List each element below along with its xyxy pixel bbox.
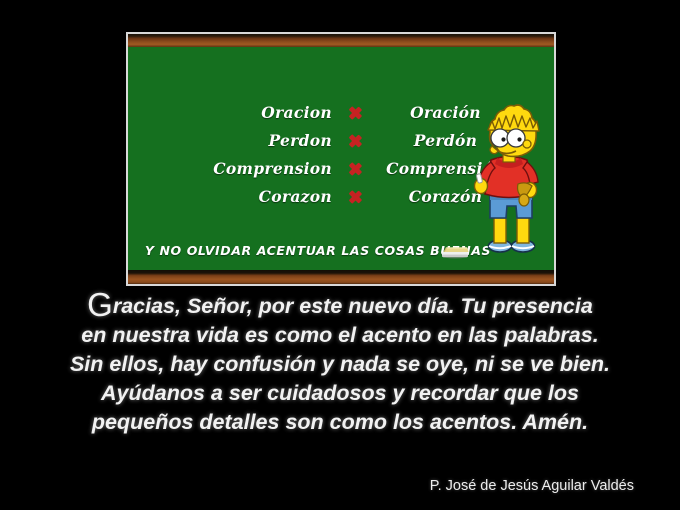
author-credit: P. José de Jesús Aguilar Valdés bbox=[430, 478, 634, 494]
x-mark-icon bbox=[348, 134, 362, 148]
word-row: Comprension bbox=[156, 155, 366, 183]
prayer-line-4: Ayúdanos a ser cuidadosos y recordar que… bbox=[0, 379, 680, 408]
chalkboard: Oracion Perdon Comprension Corazon bbox=[126, 32, 556, 286]
bart-simpson-icon bbox=[470, 96, 548, 256]
prayer-text: Gracias, Señor, por este nuevo día. Tu p… bbox=[0, 292, 680, 437]
prayer-line-5: pequeños detalles son como los acentos. … bbox=[0, 408, 680, 437]
x-mark-icon bbox=[348, 106, 362, 120]
prayer-line-3: Sin ellos, hay confusión y nada se oye, … bbox=[0, 350, 680, 379]
motivational-poster: Oracion Perdon Comprension Corazon bbox=[0, 0, 680, 510]
word-row: Corazon bbox=[156, 183, 366, 211]
prayer-dropcap: G bbox=[87, 286, 113, 323]
word-perdon-unaccented: Perdon bbox=[268, 131, 332, 150]
prayer-line-2: en nuestra vida es como el acento en las… bbox=[0, 321, 680, 350]
x-mark-icon bbox=[348, 190, 362, 204]
chalkboard-frame-top bbox=[128, 34, 554, 47]
chalkboard-eraser-icon bbox=[440, 245, 470, 259]
chalkboard-frame-bottom bbox=[128, 270, 554, 284]
x-mark-icon bbox=[348, 162, 362, 176]
prayer-line-1-text: racias, Señor, por este nuevo día. Tu pr… bbox=[113, 294, 593, 318]
word-row: Oracion bbox=[156, 99, 366, 127]
word-perdon-accented: Perdón bbox=[414, 131, 478, 150]
word-oracion-unaccented: Oracion bbox=[261, 103, 332, 122]
unaccented-word-column: Oracion Perdon Comprension Corazon bbox=[156, 99, 366, 211]
prayer-line-1: Gracias, Señor, por este nuevo día. Tu p… bbox=[0, 292, 680, 321]
chalkboard-inner: Oracion Perdon Comprension Corazon bbox=[128, 34, 554, 284]
word-row: Perdon bbox=[156, 127, 366, 155]
word-comprension-unaccented: Comprension bbox=[213, 159, 332, 178]
word-corazon-unaccented: Corazon bbox=[259, 187, 332, 206]
chalkboard-surface: Oracion Perdon Comprension Corazon bbox=[128, 47, 554, 270]
